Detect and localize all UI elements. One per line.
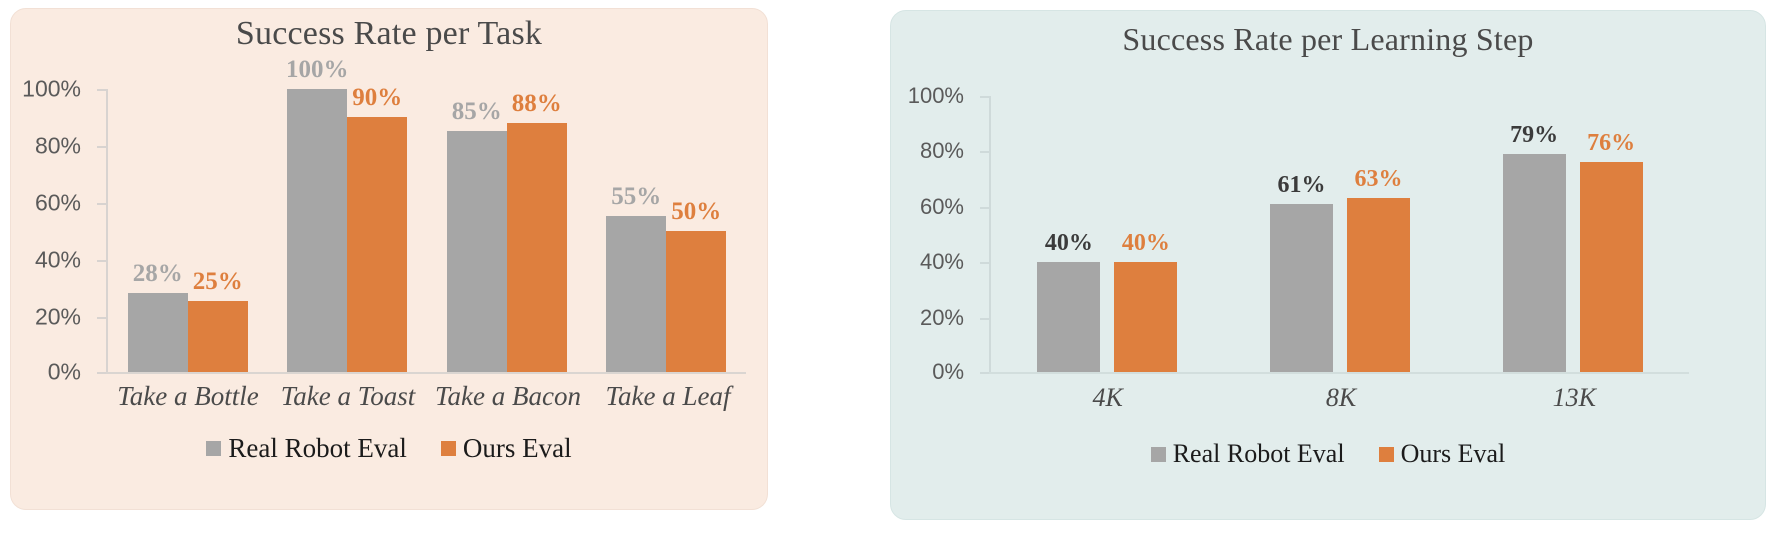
bar-ours-eval[interactable]: 50% [666, 231, 726, 373]
y-tick-0: 0% [980, 372, 989, 374]
bar-wrap: 40% [1037, 96, 1100, 372]
x-axis-label: 4K [991, 383, 1224, 413]
bar-real-robot-eval[interactable]: 55% [606, 216, 666, 372]
x-axis-label: 8K [1224, 383, 1457, 413]
bar-value-label: 55% [611, 183, 661, 211]
bar-ours-eval[interactable]: 40% [1114, 262, 1177, 372]
legend-item-ours-eval[interactable]: Ours Eval [441, 433, 572, 464]
x-axis-labels: 4K 8K 13K [991, 383, 1691, 413]
bar-real-robot-eval[interactable]: 28% [128, 293, 188, 372]
legend-swatch-icon [1379, 447, 1394, 462]
legend-swatch-icon [1151, 447, 1166, 462]
bar-group: 79% 76% [1456, 96, 1689, 372]
y-tick-label-20: 20% [920, 305, 964, 331]
y-tick-20: 20% [97, 317, 106, 319]
y-tick-label-0: 0% [932, 359, 964, 385]
bar-value-label: 85% [452, 98, 502, 126]
chart-title: Success Rate per Learning Step [891, 21, 1765, 58]
bar-value-label: 40% [1122, 230, 1170, 257]
bar-value-label: 25% [193, 268, 243, 296]
bar-value-label: 63% [1355, 166, 1403, 193]
x-axis-label: Take a Leaf [588, 381, 748, 412]
bar-wrap: 88% [507, 89, 567, 372]
y-tick-label-80: 80% [920, 138, 964, 164]
bar-value-label: 61% [1278, 172, 1326, 199]
bar-wrap: 25% [188, 89, 248, 372]
y-tick-label-20: 20% [35, 304, 81, 331]
bar-wrap: 50% [666, 89, 726, 372]
bar-real-robot-eval[interactable]: 79% [1503, 154, 1566, 372]
bar-group: 61% 63% [1224, 96, 1457, 372]
bar-wrap: 63% [1347, 96, 1410, 372]
y-tick-0: 0% [97, 372, 106, 374]
bar-value-label: 28% [133, 260, 183, 288]
bar-group: 28% 25% [108, 89, 268, 372]
bar-value-label: 88% [512, 90, 562, 118]
chart-title: Success Rate per Task [11, 15, 767, 53]
bar-value-label: 50% [671, 198, 721, 226]
bar-value-label: 100% [286, 56, 349, 84]
chart-legend: Real Robot Eval Ours Eval [11, 433, 767, 464]
plot-area: 100% 80% 60% 40% 20% 0% 28% [106, 89, 746, 374]
legend-label: Real Robot Eval [1173, 439, 1345, 469]
legend-swatch-icon [206, 441, 221, 456]
bar-group: 100% 90% [268, 89, 428, 372]
bar-group: 40% 40% [991, 96, 1224, 372]
y-tick-100: 100% [97, 89, 106, 91]
bar-ours-eval[interactable]: 25% [188, 301, 248, 372]
bar-wrap: 100% [287, 89, 347, 372]
figure-container: Success Rate per Task 100% 80% 60% 40% 2… [0, 0, 1774, 550]
bar-wrap: 76% [1580, 96, 1643, 372]
bar-value-label: 40% [1045, 230, 1093, 257]
y-tick-label-100: 100% [22, 76, 81, 103]
y-tick-40: 40% [97, 260, 106, 262]
y-tick-label-100: 100% [908, 83, 964, 109]
chart-legend: Real Robot Eval Ours Eval [891, 439, 1765, 469]
x-axis-baseline [106, 372, 746, 374]
bar-ours-eval[interactable]: 88% [507, 123, 567, 372]
y-tick-80: 80% [980, 151, 989, 153]
legend-swatch-icon [441, 441, 456, 456]
bar-real-robot-eval[interactable]: 85% [447, 131, 507, 372]
legend-item-real-robot-eval[interactable]: Real Robot Eval [1151, 439, 1345, 469]
bar-group: 55% 50% [587, 89, 747, 372]
bar-wrap: 28% [128, 89, 188, 372]
legend-item-real-robot-eval[interactable]: Real Robot Eval [206, 433, 406, 464]
bar-ours-eval[interactable]: 90% [347, 117, 407, 372]
bar-value-label: 79% [1510, 122, 1558, 149]
y-tick-label-40: 40% [35, 247, 81, 274]
y-tick-80: 80% [97, 146, 106, 148]
bar-wrap: 40% [1114, 96, 1177, 372]
legend-item-ours-eval[interactable]: Ours Eval [1379, 439, 1506, 469]
plot-area: 100% 80% 60% 40% 20% 0% 40% [989, 96, 1689, 374]
bar-ours-eval[interactable]: 63% [1347, 198, 1410, 372]
y-tick-60: 60% [97, 203, 106, 205]
x-axis-baseline [989, 372, 1689, 374]
x-axis-labels: Take a Bottle Take a Toast Take a Bacon … [108, 381, 748, 412]
bar-wrap: 85% [447, 89, 507, 372]
x-axis-label: 13K [1458, 383, 1691, 413]
bar-ours-eval[interactable]: 76% [1580, 162, 1643, 372]
bar-group: 85% 88% [427, 89, 587, 372]
bar-wrap: 61% [1270, 96, 1333, 372]
y-tick-label-80: 80% [35, 133, 81, 160]
bar-groups: 28% 25% 100% [108, 89, 746, 372]
y-tick-40: 40% [980, 262, 989, 264]
chart-panel-success-rate-per-learning-step: Success Rate per Learning Step 100% 80% … [890, 10, 1766, 520]
x-axis-label: Take a Toast [268, 381, 428, 412]
bar-real-robot-eval[interactable]: 61% [1270, 204, 1333, 372]
bar-value-label: 90% [352, 84, 402, 112]
x-axis-label: Take a Bottle [108, 381, 268, 412]
bar-value-label: 76% [1587, 130, 1635, 157]
bar-wrap: 79% [1503, 96, 1566, 372]
legend-label: Ours Eval [1401, 439, 1506, 469]
bar-wrap: 55% [606, 89, 666, 372]
bar-wrap: 90% [347, 89, 407, 372]
x-axis-label: Take a Bacon [428, 381, 588, 412]
y-tick-60: 60% [980, 207, 989, 209]
y-tick-20: 20% [980, 318, 989, 320]
bar-real-robot-eval[interactable]: 40% [1037, 262, 1100, 372]
legend-label: Real Robot Eval [228, 433, 406, 464]
y-tick-label-40: 40% [920, 249, 964, 275]
y-tick-label-60: 60% [35, 190, 81, 217]
chart-panel-success-rate-per-task: Success Rate per Task 100% 80% 60% 40% 2… [10, 8, 768, 510]
legend-label: Ours Eval [463, 433, 572, 464]
y-tick-100: 100% [980, 96, 989, 98]
y-tick-label-0: 0% [48, 359, 81, 386]
bar-groups: 40% 40% 61% [991, 96, 1689, 372]
bar-real-robot-eval[interactable]: 100% [287, 89, 347, 372]
y-tick-label-60: 60% [920, 194, 964, 220]
